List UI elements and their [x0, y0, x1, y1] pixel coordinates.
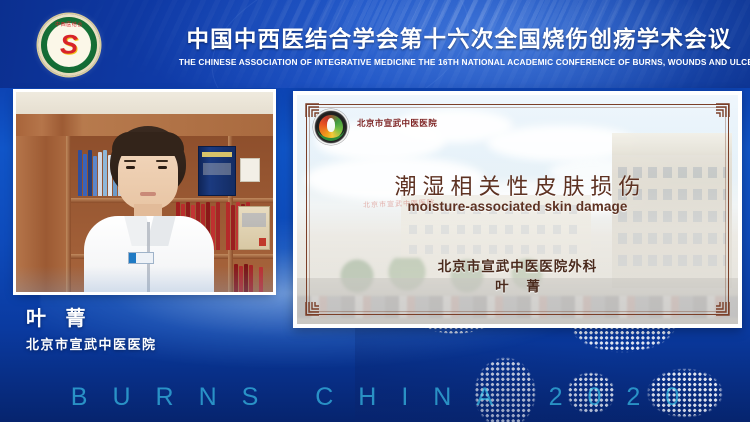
- white-box-item: [240, 158, 260, 182]
- speaker-name: 叶 菁: [26, 302, 93, 331]
- conference-emblem-logo: 中西医结合 S: [38, 14, 100, 76]
- conference-subtitle-en: THE CHINESE ASSOCIATION OF INTEGRATIVE M…: [179, 57, 739, 67]
- conference-header-banner: 中西医结合 S 中国中西医结合学会第十六次全国烧伤创疡学术会议 THE CHIN…: [0, 0, 750, 88]
- meander-corner-bottom-right-icon: [715, 301, 730, 316]
- slide-title-zh: 潮湿相关性皮肤损伤: [297, 169, 738, 201]
- presenter-mouth: [140, 192, 156, 196]
- presenter-id-badge: [128, 252, 154, 264]
- video-bottom-vignette: [16, 266, 273, 292]
- meander-corner-bottom-left-icon: [305, 301, 320, 316]
- meander-corner-top-right-icon: [715, 103, 730, 118]
- emblem-s-mark: S: [60, 32, 78, 59]
- hospital-logo-arc: [317, 126, 345, 141]
- slide-author-department: 北京市宣武中医医院外科: [297, 255, 738, 275]
- slide-author-name: 叶 菁: [297, 275, 738, 295]
- room-wall: [16, 92, 273, 114]
- presentation-slide-panel[interactable]: 北京市宣武中医医院: [293, 91, 742, 328]
- speaker-organization: 北京市宣武中医医院: [26, 334, 157, 353]
- presenter-eye-left: [126, 166, 135, 169]
- slide-subtitle-en: moisture-associated skin damage: [297, 199, 738, 214]
- presenter-fringe: [112, 132, 184, 156]
- hospital-logo-icon: [313, 109, 349, 145]
- presenter-eye-right: [158, 166, 167, 169]
- slide-hospital-name: 北京市宣武中医医院: [357, 117, 437, 129]
- slide-canvas: 北京市宣武中医医院: [297, 95, 738, 324]
- emblem-top-text: 中西医结合: [38, 21, 100, 28]
- broadcast-stage: 中西医结合 S 中国中西医结合学会第十六次全国烧伤创疡学术会议 THE CHIN…: [0, 0, 750, 422]
- conference-title-zh: 中国中西医结合学会第十六次全国烧伤创疡学术会议: [176, 22, 742, 54]
- tan-carton-item: [238, 206, 270, 250]
- presenter-eyebrow-left: [124, 160, 136, 162]
- event-wordmark: BURNS CHINA 2020: [0, 374, 750, 420]
- presenter-eyebrow-right: [156, 160, 168, 162]
- presenter-video-panel[interactable]: [16, 92, 273, 292]
